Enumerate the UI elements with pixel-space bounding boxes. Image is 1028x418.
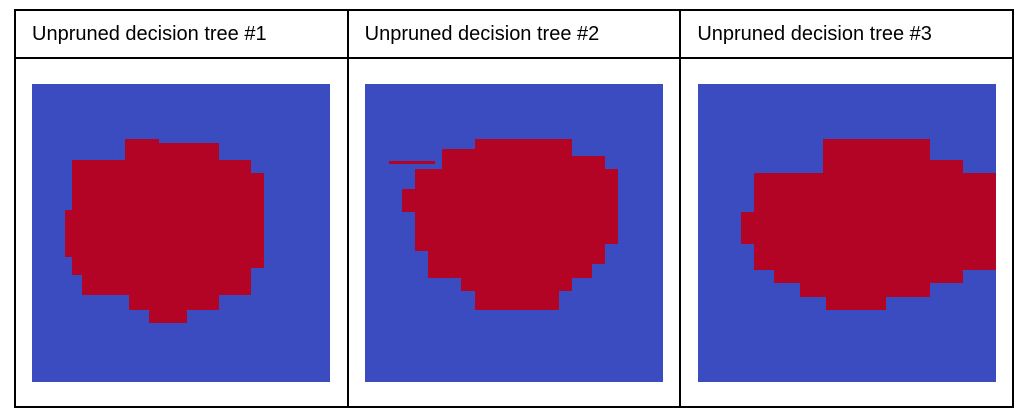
decision-boundary-comparison-table: Unpruned decision tree #1 Unpruned decis… <box>14 9 1014 408</box>
header-row: Unpruned decision tree #1 Unpruned decis… <box>15 10 1013 58</box>
decision-boundary-svg <box>365 84 663 382</box>
plot-cell-tree-3 <box>680 58 1013 407</box>
class-1-overfit-sliver <box>389 161 435 164</box>
plot-cell-tree-2 <box>348 58 681 407</box>
header-cell-tree-3: Unpruned decision tree #3 <box>680 10 1013 58</box>
decision-boundary-plot-tree-1 <box>32 84 330 382</box>
column-header-tree-3: Unpruned decision tree #3 <box>697 23 932 45</box>
decision-boundary-plot-tree-3 <box>698 84 996 382</box>
decision-boundary-plot-tree-2 <box>365 84 663 382</box>
column-header-tree-2: Unpruned decision tree #2 <box>365 23 600 45</box>
header-cell-tree-2: Unpruned decision tree #2 <box>348 10 681 58</box>
header-cell-tree-1: Unpruned decision tree #1 <box>15 10 348 58</box>
decision-boundary-svg <box>32 84 330 382</box>
column-header-tree-1: Unpruned decision tree #1 <box>32 23 267 45</box>
plot-cell-tree-1 <box>15 58 348 407</box>
figure-canvas: Unpruned decision tree #1 Unpruned decis… <box>0 0 1028 418</box>
decision-boundary-svg <box>698 84 996 382</box>
plot-row <box>15 58 1013 407</box>
